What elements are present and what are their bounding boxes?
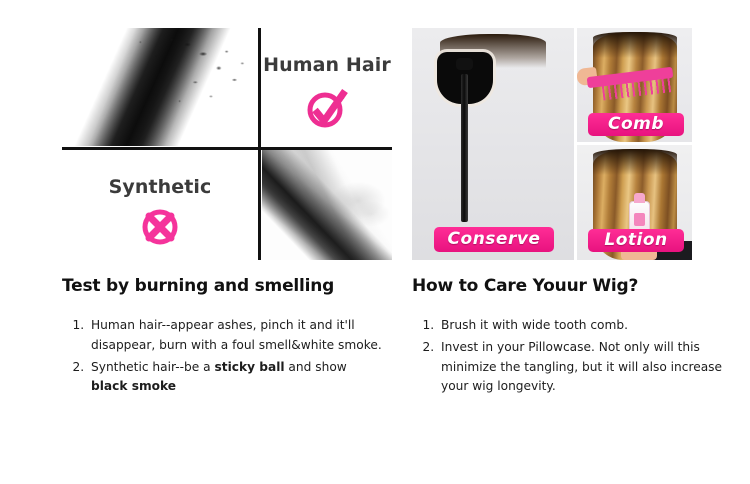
synthetic-mark	[62, 206, 258, 248]
melted-synthetic-hair-image	[262, 150, 392, 260]
divider-vertical-bottom	[258, 150, 261, 260]
wig-stand-knob	[456, 58, 473, 70]
wig-care-text-block: How to Care Youur Wig? Brush it with wid…	[412, 276, 732, 399]
lotion-ribbon: Lotion	[588, 229, 684, 252]
burn-test-heading: Test by burning and smelling	[62, 276, 382, 296]
divider-horizontal	[62, 147, 392, 150]
wig-care-heading: How to Care Youur Wig?	[412, 276, 732, 296]
wig-care-list: Brush it with wide tooth comb. Invest in…	[412, 316, 732, 397]
burn-test-grid: Human Hair Synthetic	[62, 28, 392, 260]
synthetic-label-cell: Synthetic	[62, 150, 258, 260]
check-icon	[304, 86, 350, 130]
synthetic-photo	[262, 150, 392, 260]
human-hair-mark	[262, 86, 392, 130]
list-item: Invest in your Pillowcase. Not only will…	[438, 338, 732, 397]
synthetic-label: Synthetic	[62, 176, 258, 198]
list-item: Synthetic hair--be a sticky ball and sho…	[88, 358, 382, 398]
list-item: Human hair--appear ashes, pinch it and i…	[88, 316, 382, 356]
human-hair-photo	[62, 28, 258, 146]
burn-test-figure: Human Hair Synthetic	[62, 28, 392, 260]
conserve-photo: Conserve	[412, 28, 574, 260]
comb-ribbon: Comb	[588, 113, 684, 136]
human-hair-label: Human Hair	[262, 54, 392, 76]
human-hair-label-cell: Human Hair	[262, 28, 392, 146]
wig-care-figure: Conserve Comb Lotion	[412, 28, 692, 260]
left-column: Human Hair Synthetic	[0, 0, 400, 484]
infographic-page: Human Hair Synthetic	[0, 0, 750, 484]
cross-icon	[139, 206, 181, 248]
burn-test-text-block: Test by burning and smelling Human hair-…	[62, 276, 382, 399]
wig-stand-pole	[461, 74, 468, 222]
right-column: Conserve Comb Lotion How to Care Youur W…	[400, 0, 750, 484]
list-item: Brush it with wide tooth comb.	[438, 316, 732, 336]
conserve-ribbon: Conserve	[434, 227, 554, 252]
burn-test-list: Human hair--appear ashes, pinch it and i…	[62, 316, 382, 397]
divider-vertical-top	[258, 28, 261, 148]
burnt-human-hair-image	[62, 28, 258, 146]
